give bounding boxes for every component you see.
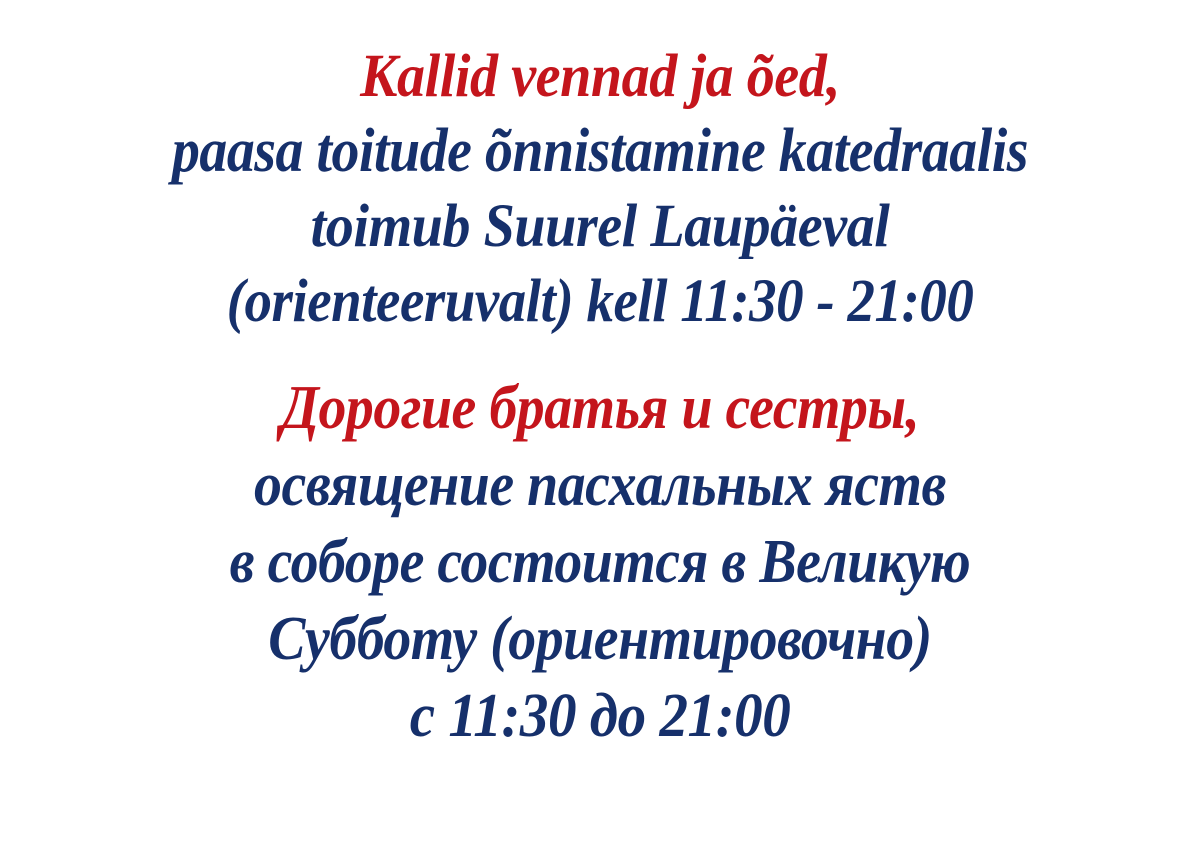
russian-line-4: с 11:30 до 21:00 (48, 678, 1152, 755)
russian-announcement-block: Дорогие братья и сестры, освящение пасха… (0, 371, 1200, 754)
announcement-poster: Kallid vennad ja õed, paasa toitude õnni… (0, 0, 1200, 848)
estonian-line-3: (orienteeruvalt) kell 11:30 - 21:00 (60, 264, 1140, 339)
estonian-announcement-block: Kallid vennad ja õed, paasa toitude õnni… (0, 40, 1200, 339)
estonian-line-1: paasa toitude õnnistamine katedraalis (60, 113, 1140, 189)
russian-line-1: освящение пасхальных яств (60, 447, 1140, 524)
estonian-line-2: toimub Suurel Laupäeval (48, 189, 1152, 264)
russian-line-2: в соборе состоится в Великую (60, 524, 1140, 601)
estonian-heading: Kallid vennad ja õed, (48, 40, 1152, 113)
russian-heading: Дорогие братья и сестры, (60, 371, 1140, 447)
russian-line-3: Субботу (ориентировочно) (60, 601, 1140, 678)
